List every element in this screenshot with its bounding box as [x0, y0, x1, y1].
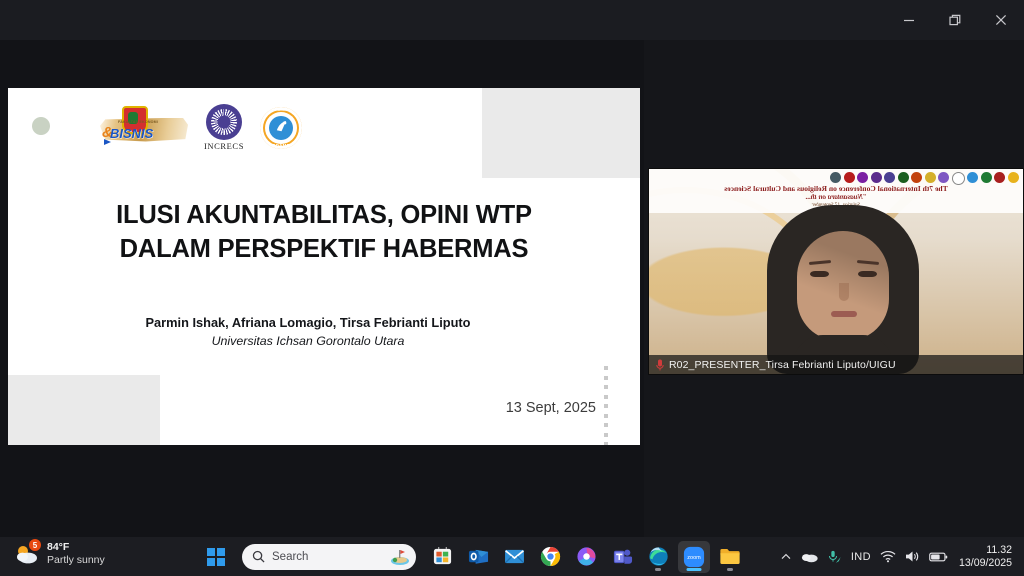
search-box[interactable]: Search	[242, 544, 416, 570]
slide-authors: Parmin Ishak, Afriana Lomagio, Tirsa Feb…	[8, 315, 608, 330]
svg-text:zoom: zoom	[687, 555, 701, 561]
search-icon	[252, 550, 265, 563]
edge-icon[interactable]	[642, 541, 674, 573]
clock-time: 11.32	[959, 544, 1012, 557]
bird-icon	[275, 120, 288, 135]
clock-date: 13/09/2025	[959, 557, 1012, 570]
outlook-icon[interactable]	[462, 541, 494, 573]
volume-icon[interactable]	[905, 550, 920, 563]
slide-decoration-right	[482, 88, 640, 178]
increcs-logo-caption: INCRECS	[202, 141, 246, 151]
participant-name-label: R02_PRESENTER_Tirsa Febrianti Liputo/UIG…	[669, 359, 896, 371]
microphone-muted-icon	[656, 359, 664, 371]
language-indicator[interactable]: IND	[851, 551, 871, 563]
window-controls	[886, 0, 1024, 40]
teams-icon[interactable]	[606, 541, 638, 573]
banner-subtitle: "Nuasantara on th...	[649, 193, 1023, 201]
chrome-icon[interactable]	[534, 541, 566, 573]
notification-badge: 5	[29, 539, 41, 551]
windows-taskbar: 5 84°F Partly sunny	[0, 537, 1024, 576]
weather-condition: Partly sunny	[47, 554, 105, 567]
desktop-screen: & FAKULTAS EKONOMI BISNIS INCRECS DIKTIS…	[0, 0, 1024, 576]
fe-logo-word: BISNIS	[110, 126, 153, 141]
search-placeholder: Search	[272, 551, 383, 563]
windows-logo-icon	[207, 548, 225, 566]
copilot-icon[interactable]	[570, 541, 602, 573]
file-explorer-icon[interactable]	[714, 541, 746, 573]
show-hidden-icons-button[interactable]	[780, 551, 792, 563]
wifi-icon[interactable]	[880, 550, 896, 563]
presentation-slide: & FAKULTAS EKONOMI BISNIS INCRECS DIKTIS…	[8, 88, 640, 445]
slide-affiliation: Universitas Ichsan Gorontalo Utara	[8, 334, 608, 348]
slide-dotted-divider	[604, 366, 608, 445]
presenter-figure	[767, 205, 919, 374]
berdampak-logo-bottom-text: BERDAMPAK	[260, 143, 302, 148]
taskbar-app-row: Search	[200, 537, 746, 576]
zoom-window-titlebar	[0, 0, 1024, 40]
restore-button[interactable]	[932, 0, 978, 40]
microsoft-store-icon[interactable]	[426, 541, 458, 573]
minimize-button[interactable]	[886, 0, 932, 40]
search-highlight-icon	[390, 548, 410, 566]
berdampak-logo: DIKTISAINTEK BERDAMPAK	[260, 107, 302, 149]
start-button[interactable]	[200, 541, 232, 573]
mail-icon[interactable]	[498, 541, 530, 573]
slide-decoration-bottom	[8, 375, 160, 445]
participant-name-bar: R02_PRESENTER_Tirsa Febrianti Liputo/UIG…	[649, 355, 1023, 374]
slide-decoration-dot	[32, 117, 50, 135]
battery-icon[interactable]	[929, 551, 948, 563]
slide-title-line2: DALAM PERSPEKTIF HABERMAS	[8, 232, 640, 266]
berdampak-logo-top-text: DIKTISAINTEK	[260, 108, 302, 112]
weather-icon: 5	[14, 541, 40, 567]
fakultas-ekonomi-bisnis-logo: & FAKULTAS EKONOMI BISNIS	[100, 106, 188, 150]
shared-screen-stage[interactable]: & FAKULTAS EKONOMI BISNIS INCRECS DIKTIS…	[0, 40, 644, 537]
slide-date: 13 Sept, 2025	[506, 400, 596, 416]
close-button[interactable]	[978, 0, 1024, 40]
zoom-icon[interactable]: zoom	[678, 541, 710, 573]
clock[interactable]: 11.32 13/09/2025	[959, 544, 1012, 570]
weather-widget[interactable]: 5 84°F Partly sunny	[14, 541, 105, 567]
banner-title: The 7th International Conference on Reli…	[649, 184, 1023, 193]
slide-logo-row: & FAKULTAS EKONOMI BISNIS INCRECS DIKTIS…	[100, 104, 302, 151]
weather-text: 84°F Partly sunny	[47, 541, 105, 567]
slide-title: ILUSI AKUNTABILITAS, OPINI WTP DALAM PER…	[8, 198, 640, 267]
slide-title-line1: ILUSI AKUNTABILITAS, OPINI WTP	[8, 198, 640, 232]
onedrive-icon[interactable]	[801, 551, 818, 563]
fe-logo-tagline: FAKULTAS EKONOMI	[118, 120, 158, 124]
participant-video-tile[interactable]: The 7th International Conference on Reli…	[648, 168, 1024, 375]
chevron-up-icon	[780, 551, 792, 563]
increcs-logo: INCRECS	[202, 104, 246, 151]
system-tray: IND	[780, 537, 1016, 576]
microphone-tray-icon[interactable]	[827, 550, 842, 564]
weather-temperature: 84°F	[47, 541, 105, 554]
